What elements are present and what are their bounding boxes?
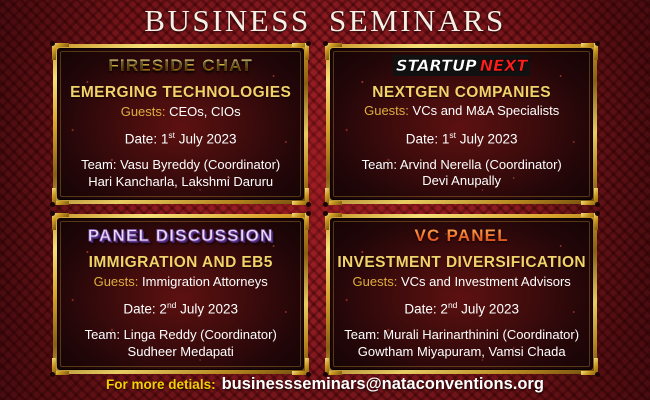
corner-dot-top-right-icon <box>595 41 600 46</box>
corner-dot-top-left-icon <box>323 211 328 216</box>
panel-guests: Guests: VCs and M&A Specialists <box>337 102 586 120</box>
seminar-panel-panel-discussion[interactable]: PANEL DISCUSSION IMMIGRATION AND EB5 Gue… <box>53 214 308 374</box>
date-ordinal: st <box>168 130 175 140</box>
panel-team: Team: Arvind Nerella (Coordinator) Devi … <box>337 157 586 191</box>
page-title: BUSINESS SEMINARS <box>144 5 505 36</box>
panel-date: Date: 1st July 2023 <box>337 130 586 147</box>
date-label: Date: <box>406 132 438 147</box>
guests-label: Guests: <box>94 274 139 289</box>
page-title-bar: BUSINESS SEMINARS <box>0 0 650 40</box>
guests-label: Guests: <box>364 103 409 118</box>
footer-label: For more detials: <box>106 377 216 392</box>
guests-label: Guests: <box>353 274 398 289</box>
corner-dot-bottom-right-icon <box>306 202 311 207</box>
team-line-2: Devi Anupally <box>337 173 586 190</box>
date-ordinal: st <box>449 130 456 140</box>
panel-inner: STARTUPNEXT NEXTGEN COMPANIES Guests: VC… <box>330 48 593 200</box>
date-label: Date: <box>125 132 157 147</box>
date-rest: July 2023 <box>461 302 519 317</box>
panel-date: Date: 2nd July 2023 <box>337 300 586 317</box>
team-line-1: Team: Linga Reddy (Coordinator) <box>64 327 297 344</box>
seminar-panel-fireside-chat[interactable]: FIRESIDE CHAT EMERGING TECHNOLOGIES Gues… <box>53 44 308 204</box>
panel-team: Team: Murali Harinarthinini (Coordinator… <box>337 327 586 361</box>
team-line-2: Sudheer Medapati <box>64 344 297 361</box>
guests-label: Guests: <box>121 104 166 119</box>
panel-content: STARTUPNEXT NEXTGEN COMPANIES Guests: VC… <box>331 58 592 191</box>
panel-date: Date: 2nd July 2023 <box>64 300 297 317</box>
panel-heading: FIRESIDE CHAT <box>64 57 297 75</box>
date-rest: July 2023 <box>179 132 237 147</box>
team-line-2: Hari Kancharla, Lakshmi Daruru <box>64 174 297 191</box>
panel-inner: PANEL DISCUSSION IMMIGRATION AND EB5 Gue… <box>57 218 304 370</box>
panel-content: FIRESIDE CHAT EMERGING TECHNOLOGIES Gues… <box>58 57 303 190</box>
panel-subtitle: INVESTMENT DIVERSIFICATION <box>337 254 586 272</box>
logo-part-startup: STARTUP <box>393 55 479 76</box>
date-rest: July 2023 <box>180 302 238 317</box>
logo-part-next: NEXT <box>479 55 531 76</box>
date-ordinal: nd <box>448 300 457 310</box>
corner-dot-bottom-left-icon <box>50 202 55 207</box>
panel-team: Team: Vasu Byreddy (Coordinator) Hari Ka… <box>64 157 297 191</box>
panel-guests: Guests: VCs and Investment Advisors <box>337 273 586 291</box>
date-label: Date: <box>404 302 436 317</box>
corner-dot-top-left-icon <box>50 211 55 216</box>
panel-subtitle: IMMIGRATION AND EB5 <box>64 254 297 272</box>
panel-team: Team: Linga Reddy (Coordinator) Sudheer … <box>64 327 297 361</box>
business-seminars-flyer: { "header": { "title": "BUSINESS SEMINAR… <box>0 0 650 400</box>
corner-dot-top-left-icon <box>323 41 328 46</box>
corner-dot-bottom-right-icon <box>595 202 600 207</box>
corner-dot-bottom-left-icon <box>323 202 328 207</box>
guests-value: VCs and Investment Advisors <box>401 274 571 289</box>
seminar-panel-grid: FIRESIDE CHAT EMERGING TECHNOLOGIES Gues… <box>53 44 597 374</box>
panel-subtitle: EMERGING TECHNOLOGIES <box>64 84 297 102</box>
panel-heading: PANEL DISCUSSION <box>64 227 297 245</box>
date-day: 2 <box>440 302 448 317</box>
panel-guests: Guests: CEOs, CIOs <box>64 103 297 121</box>
team-line-1: Team: Murali Harinarthinini (Coordinator… <box>337 327 586 344</box>
corner-dot-top-right-icon <box>306 211 311 216</box>
guests-value: CEOs, CIOs <box>169 104 241 119</box>
panel-heading-logo: STARTUPNEXT <box>337 58 586 74</box>
seminar-panel-startup-next[interactable]: STARTUPNEXT NEXTGEN COMPANIES Guests: VC… <box>326 44 597 204</box>
footer-email[interactable]: businessseminars@nataconventions.org <box>222 375 544 394</box>
footer-contact: For more detials: businessseminars@natac… <box>0 372 650 396</box>
guests-value: Immigration Attorneys <box>142 274 268 289</box>
panel-guests: Guests: Immigration Attorneys <box>64 273 297 291</box>
panel-inner: FIRESIDE CHAT EMERGING TECHNOLOGIES Gues… <box>57 48 304 200</box>
panel-heading: VC PANEL <box>337 227 586 245</box>
date-ordinal: nd <box>167 300 176 310</box>
corner-dot-top-right-icon <box>595 211 600 216</box>
guests-value: VCs and M&A Specialists <box>413 103 560 118</box>
date-label: Date: <box>123 302 155 317</box>
date-rest: July 2023 <box>460 132 518 147</box>
panel-content: VC PANEL INVESTMENT DIVERSIFICATION Gues… <box>331 227 592 360</box>
panel-inner: VC PANEL INVESTMENT DIVERSIFICATION Gues… <box>330 218 593 370</box>
seminar-panel-vc-panel[interactable]: VC PANEL INVESTMENT DIVERSIFICATION Gues… <box>326 214 597 374</box>
corner-dot-top-left-icon <box>50 41 55 46</box>
team-line-1: Team: Arvind Nerella (Coordinator) <box>337 157 586 174</box>
team-line-2: Gowtham Miyapuram, Vamsi Chada <box>337 344 586 361</box>
date-day: 2 <box>159 302 167 317</box>
panel-content: PANEL DISCUSSION IMMIGRATION AND EB5 Gue… <box>58 227 303 360</box>
team-line-1: Team: Vasu Byreddy (Coordinator) <box>64 157 297 174</box>
panel-subtitle: NEXTGEN COMPANIES <box>337 84 586 102</box>
panel-date: Date: 1st July 2023 <box>64 130 297 147</box>
corner-dot-top-right-icon <box>306 41 311 46</box>
